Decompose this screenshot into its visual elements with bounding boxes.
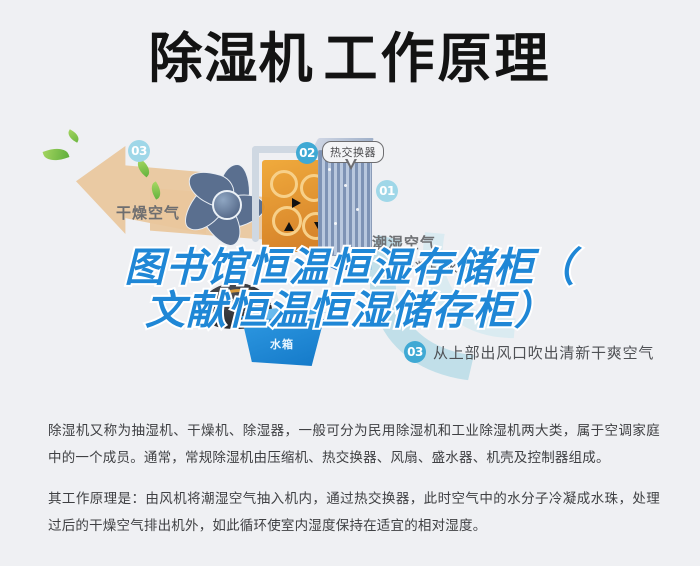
coil-ring	[272, 206, 302, 236]
body-paragraph-1: 除湿机又称为抽湿机、干燥机、除湿器，一般可分为民用除湿机和工业除湿机两大类，属于…	[48, 418, 660, 472]
step-badge-01-humid: 01	[376, 180, 398, 202]
leaf-icon	[66, 129, 81, 142]
page-title-part2: 工作原理	[324, 27, 552, 90]
water-tank-icon: 水箱	[236, 306, 328, 368]
dehumidifier-diagram: 03 干燥空气	[0, 108, 700, 408]
page-title: 除湿机工作原理	[149, 32, 552, 86]
airflow-arrow-icon	[330, 260, 344, 274]
condensation-caption: 冷凝成水珠	[400, 258, 473, 278]
water-droplet-icon	[334, 222, 337, 225]
outlet-caption-text: 从上部出风口吹出清新干爽空气	[433, 342, 654, 363]
compressor-copper-band	[218, 289, 264, 307]
outlet-caption-row: 03 从上部出风口吹出清新干爽空气	[404, 341, 654, 363]
page-title-part1: 除湿机	[149, 27, 314, 90]
flow-arrow-up-icon	[284, 222, 294, 231]
water-droplet-icon	[328, 168, 331, 171]
water-droplet-icon	[344, 184, 347, 187]
airflow-arrow-tail	[344, 265, 372, 270]
water-droplet-icon	[356, 208, 359, 211]
flow-arrow-right-icon	[292, 198, 301, 208]
body-paragraph-2: 其工作原理是：由风机将潮湿空气抽入机内，通过热交换器，此时空气中的水分子冷凝成水…	[48, 486, 660, 540]
refrigerant-pipe	[252, 146, 259, 242]
coil-ring	[270, 170, 298, 198]
water-tank-label: 水箱	[270, 336, 294, 352]
page-root: 除湿机工作原理 03 干燥空气	[0, 0, 700, 566]
fan-hub	[212, 190, 242, 220]
step-badge-03-dry: 03	[128, 140, 150, 162]
heat-exchanger-icon	[318, 150, 370, 254]
article-body: 除湿机又称为抽湿机、干燥机、除湿器，一般可分为民用除湿机和工业除湿机两大类，属于…	[48, 418, 660, 552]
leaf-icon	[43, 145, 70, 165]
fan-icon	[178, 156, 274, 252]
humid-air-label: 潮湿空气	[372, 232, 436, 253]
step-badge-03-outlet: 03	[404, 341, 426, 363]
step-badge-02-heat-exchanger: 02	[296, 142, 318, 164]
callout-pointer-icon	[345, 159, 357, 170]
dry-air-label: 干燥空气	[116, 202, 180, 223]
